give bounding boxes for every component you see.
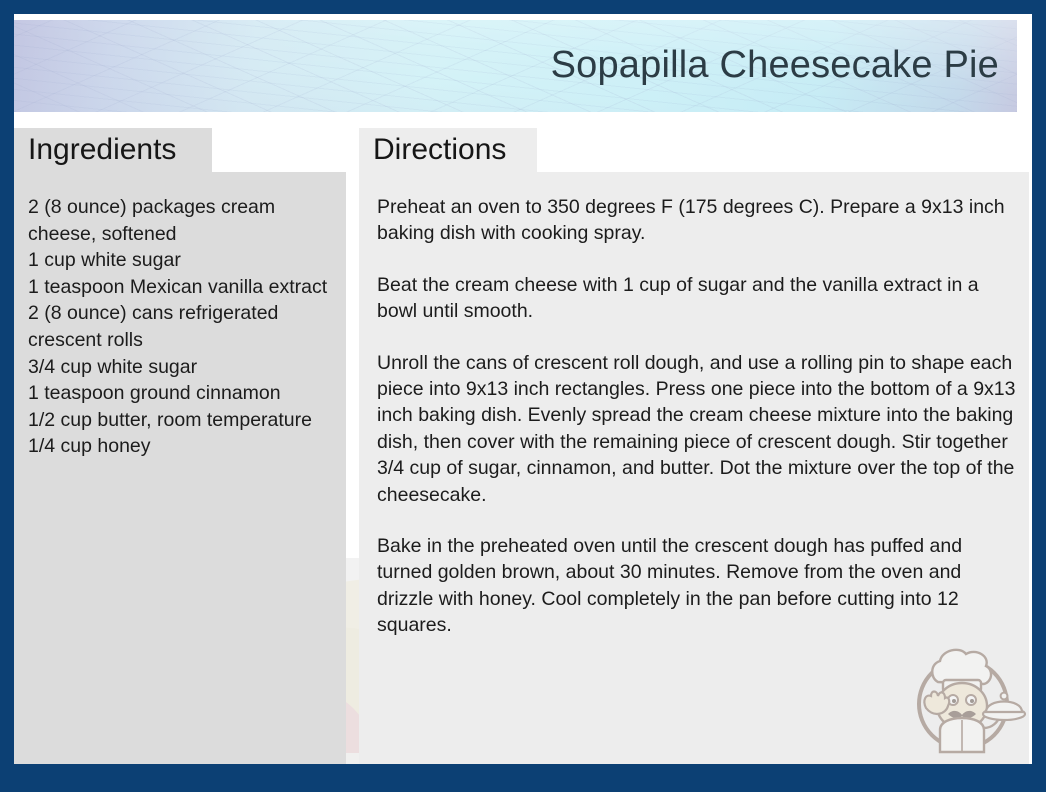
direction-step: Beat the cream cheese with 1 cup of suga… xyxy=(377,272,1021,325)
direction-step: Bake in the preheated oven until the cre… xyxy=(377,533,1021,639)
direction-step: Preheat an oven to 350 degrees F (175 de… xyxy=(377,194,1021,247)
list-item: 3/4 cup white sugar xyxy=(28,354,330,381)
ingredients-heading: Ingredients xyxy=(14,128,212,172)
ingredients-panel: Ingredients 2 (8 ounce) packages cream c… xyxy=(14,128,346,764)
list-item: 1 cup white sugar xyxy=(28,247,330,274)
list-item: 1 teaspoon ground cinnamon xyxy=(28,380,330,407)
directions-heading: Directions xyxy=(359,128,537,172)
page-title: Sopapilla Cheesecake Pie xyxy=(551,45,999,87)
chef-mascot-logo xyxy=(900,634,1026,756)
direction-step: Unroll the cans of crescent roll dough, … xyxy=(377,350,1021,508)
title-banner: Sopapilla Cheesecake Pie xyxy=(14,20,1017,112)
list-item: 2 (8 ounce) packages cream cheese, softe… xyxy=(28,194,330,247)
recipe-card: Sopapilla Cheesecake Pie xyxy=(14,14,1032,764)
list-item: 1/2 cup butter, room temperature xyxy=(28,407,330,434)
ingredients-list: 2 (8 ounce) packages cream cheese, softe… xyxy=(14,172,346,764)
list-item: 1 teaspoon Mexican vanilla extract xyxy=(28,274,330,301)
content-columns: Ingredients 2 (8 ounce) packages cream c… xyxy=(14,128,1032,764)
list-item: 2 (8 ounce) cans refrigerated crescent r… xyxy=(28,300,330,353)
list-item: 1/4 cup honey xyxy=(28,433,330,460)
page-border: Sopapilla Cheesecake Pie xyxy=(0,0,1046,792)
